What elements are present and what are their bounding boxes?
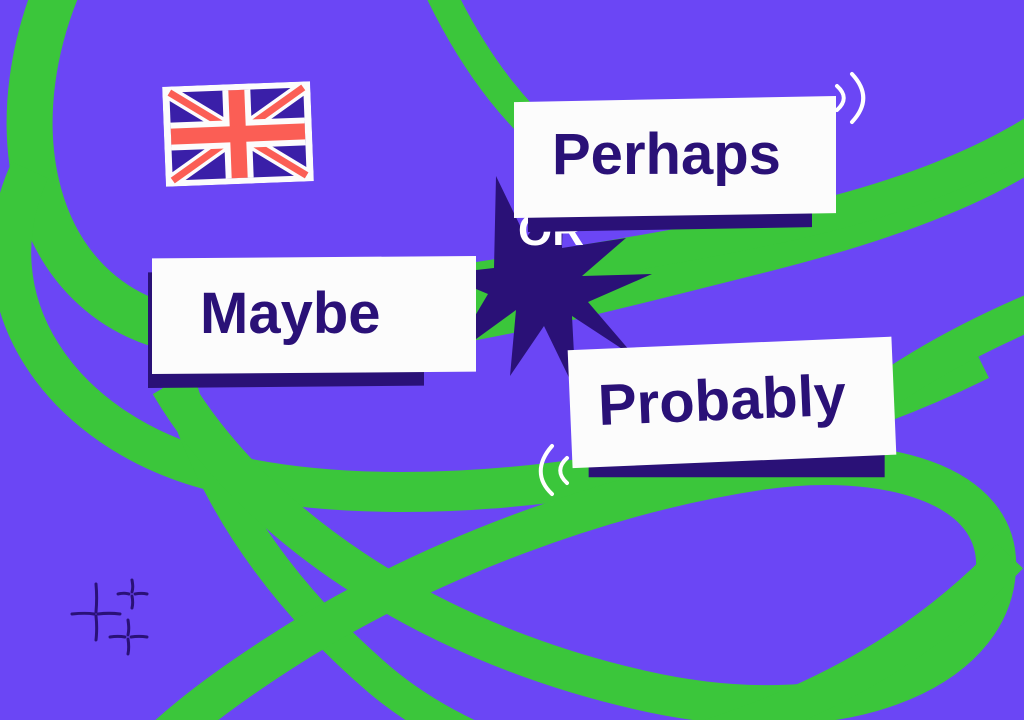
card-perhaps[interactable]: Perhaps	[514, 96, 798, 218]
card-label-maybe: Maybe	[200, 285, 381, 343]
poster-canvas: OR Perhaps Maybe Probably	[0, 0, 1024, 720]
card-maybe[interactable]: Maybe	[152, 256, 428, 374]
sound-arcs-right-icon	[826, 68, 874, 124]
sound-arcs-left-icon	[530, 442, 578, 498]
card-probably[interactable]: Probably	[568, 338, 869, 468]
sparkle-cluster	[70, 578, 162, 656]
sparkle-arm	[96, 616, 97, 640]
sparkle-arm	[96, 584, 97, 612]
sparkle-arm	[72, 613, 94, 614]
card-face: Maybe	[152, 256, 476, 374]
card-face: Probably	[568, 337, 897, 468]
card-face: Perhaps	[514, 96, 836, 218]
sparkle-arm	[98, 613, 120, 614]
union-jack-flag	[162, 81, 314, 187]
card-label-perhaps: Perhaps	[552, 126, 781, 184]
card-label-probably: Probably	[597, 367, 847, 435]
